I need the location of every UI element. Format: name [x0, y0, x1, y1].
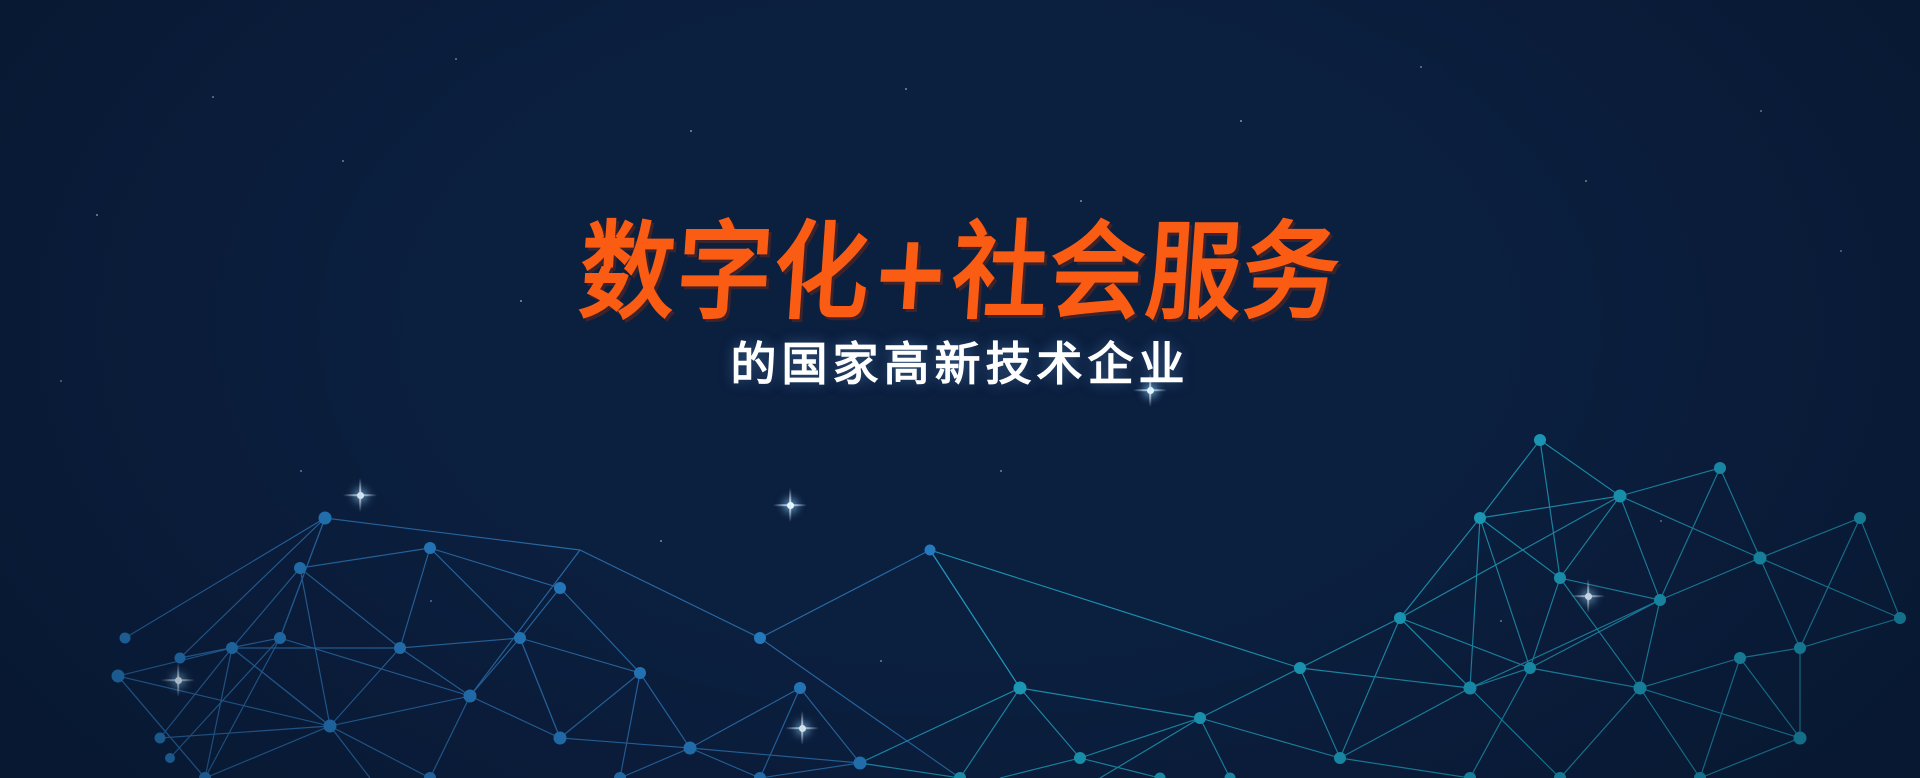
- hero-text-block: 数字化+社会服务 的国家高新技术企业: [0, 0, 1920, 390]
- hero-headline: 数字化+社会服务: [576, 220, 1344, 326]
- hero-banner: 数字化+社会服务 的国家高新技术企业: [0, 0, 1920, 778]
- hero-subtitle: 的国家高新技术企业: [731, 339, 1190, 390]
